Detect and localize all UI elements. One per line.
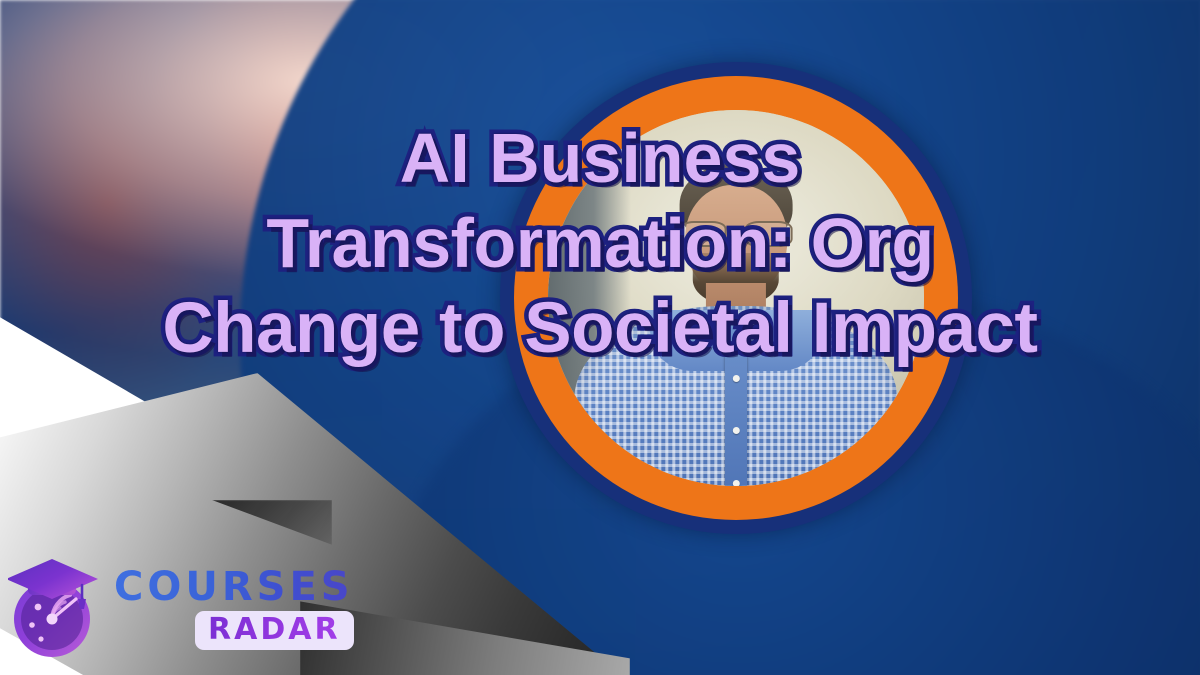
shirt-button bbox=[732, 427, 739, 434]
brand-wordmark: COURSES RADAR bbox=[114, 566, 354, 650]
glasses-icon bbox=[680, 221, 793, 247]
brand-name-secondary-badge: RADAR bbox=[195, 611, 354, 650]
course-thumbnail: AI Business Transformation: Org Change t… bbox=[0, 0, 1200, 675]
badge-orange-ring bbox=[514, 76, 958, 520]
brand-logo[interactable]: COURSES RADAR bbox=[8, 555, 354, 661]
shirt-placket bbox=[725, 318, 748, 486]
brand-name-secondary: RADAR bbox=[208, 614, 341, 646]
shirt-collar-right bbox=[734, 310, 829, 371]
brand-name-primary: COURSES bbox=[114, 566, 354, 608]
instructor-badge bbox=[500, 62, 972, 534]
glasses-bridge bbox=[729, 232, 743, 234]
shirt-button bbox=[732, 480, 739, 486]
glasses-lens-right bbox=[745, 221, 792, 247]
portrait-shirt bbox=[574, 306, 897, 486]
instructor-portrait-icon bbox=[548, 110, 924, 486]
graduation-cap-radar-icon bbox=[8, 555, 100, 661]
shirt-button bbox=[732, 375, 739, 382]
glasses-lens-left bbox=[680, 221, 727, 247]
